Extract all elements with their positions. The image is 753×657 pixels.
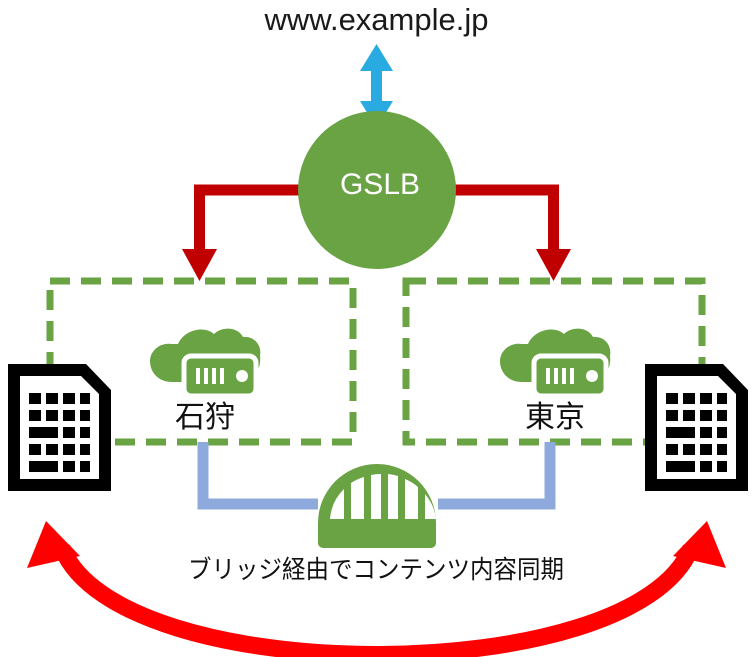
bridge-icon [318, 464, 436, 548]
cloud-server-icon-left [150, 329, 260, 396]
elbow-line-right [438, 442, 550, 504]
zone-label-tokyo: 東京 [470, 392, 640, 436]
building-icon-left [8, 364, 111, 491]
diagram-canvas: www.example.jp GSLB 石狩 東京 ブリッジ経由でコンテンツ内容… [0, 0, 753, 657]
elbow-line-left [203, 442, 318, 504]
building-icon-right [645, 364, 748, 491]
zone-label-ishikari: 石狩 [120, 392, 290, 436]
bridge-caption: ブリッジ経由でコンテンツ内容同期 [141, 550, 611, 586]
elbow-arrow-left [182, 190, 310, 281]
gslb-node-label: GSLB [300, 168, 460, 202]
page-title: www.example.jp [0, 2, 753, 38]
cloud-server-icon-right [500, 329, 610, 396]
elbow-arrow-right [443, 190, 571, 281]
